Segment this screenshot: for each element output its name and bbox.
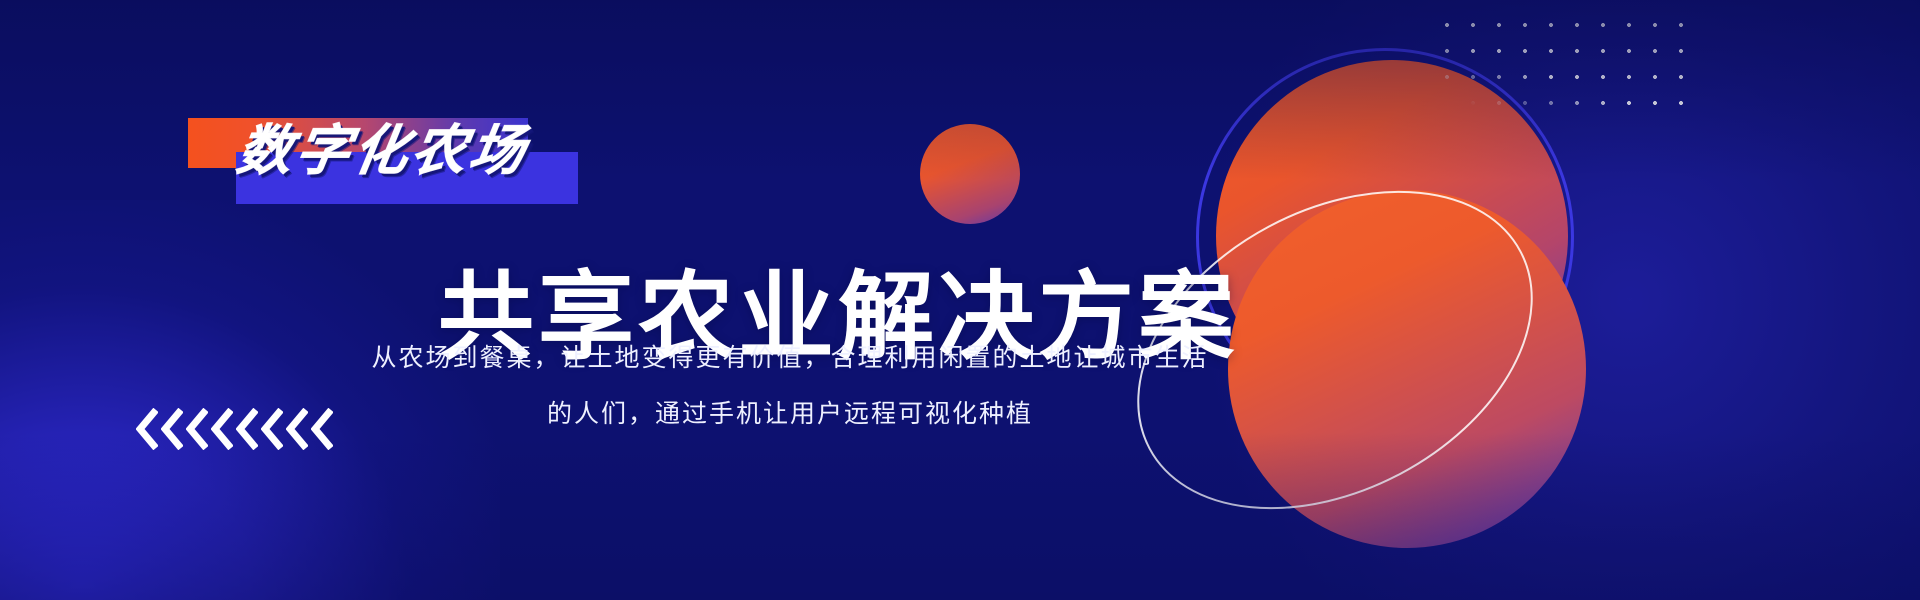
tag-badge: 数字化农场 bbox=[188, 118, 588, 198]
chevron-left-icon bbox=[211, 408, 233, 450]
chevron-left-icon bbox=[186, 408, 208, 450]
hero-banner: 数字化农场 共享农业解决方案 从农场到餐桌，让土地变得更有价值，合理利用闲置的土… bbox=[0, 0, 1920, 600]
chevron-left-icon bbox=[136, 408, 158, 450]
chevron-left-icon bbox=[261, 408, 283, 450]
subtitle-line-2: 的人们，通过手机让用户远程可视化种植 bbox=[350, 386, 1230, 442]
subtitle-line-1: 从农场到餐桌，让土地变得更有价值，合理利用闲置的土地让城市生活 bbox=[350, 330, 1230, 386]
tag-label: 数字化农场 bbox=[234, 124, 603, 178]
chevron-left-icon bbox=[161, 408, 183, 450]
chevron-left-icon bbox=[311, 408, 333, 450]
chevron-left-icon bbox=[286, 408, 308, 450]
subtitle-block: 从农场到餐桌，让土地变得更有价值，合理利用闲置的土地让城市生活 的人们，通过手机… bbox=[350, 330, 1230, 442]
chevron-left-icon bbox=[236, 408, 258, 450]
chevron-decoration-group bbox=[136, 408, 333, 450]
